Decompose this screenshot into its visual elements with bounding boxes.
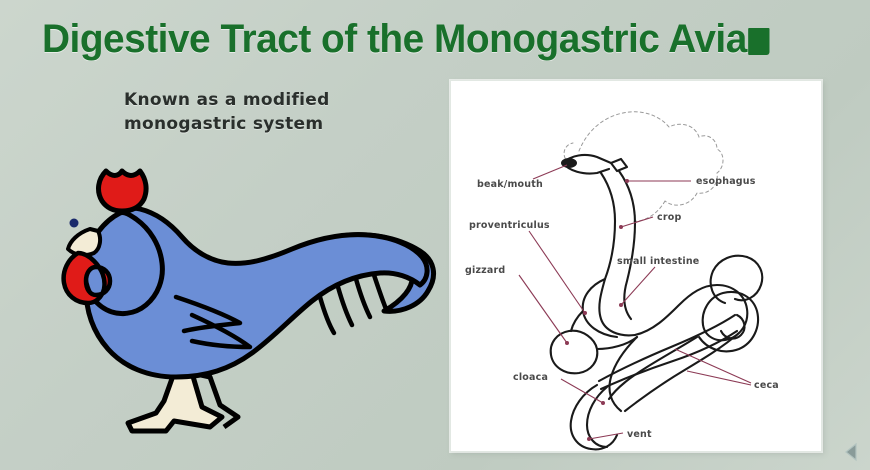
leader-ceca-lower [687,371,751,385]
leader-cloaca [561,379,603,403]
page-title-text: Digestive Tract of the Monogastric Avia [42,17,747,61]
diagram-label-gizzard: gizzard [465,265,505,276]
diagram-label-beak-mouth: beak/mouth [477,179,543,190]
chevron-left-icon [846,444,856,460]
subtitle-block: Known as a modified monogastric system [124,88,424,136]
digestive-tract-path [551,171,763,411]
chicken-legs [128,373,238,431]
leader-beak-mouth [533,165,567,179]
subtitle-line-2: monogastric system [124,112,424,136]
leader-ceca-upper [675,349,751,383]
chicken-comb [99,171,147,211]
slide-canvas: Digestive Tract of the Monogastric Avian… [0,0,870,470]
diagram-label-ceca: ceca [754,380,779,391]
chicken-beak [68,229,100,255]
diagram-label-crop: crop [657,212,681,223]
diagram-label-proventriculus: proventriculus [469,220,550,231]
subtitle-line-1: Known as a modified [124,88,424,112]
page-title: Digestive Tract of the Monogastric Avian [42,14,818,66]
leader-vent [589,433,623,439]
diagram-label-small-intestine: small intestine [617,256,699,267]
chicken-eye [70,219,79,228]
previous-slide-arrow[interactable] [840,440,864,464]
digestive-tract-diagram-panel: beak/mouth esophagus proventriculus crop… [450,80,822,452]
leader-crop [621,217,653,227]
beak-shape [561,155,627,174]
diagram-label-vent: vent [627,429,652,440]
diagram-label-cloaca: cloaca [513,372,548,383]
chicken-illustration [24,155,444,460]
bird-head-outline [564,112,723,222]
title-clipped-glyph: n [748,28,769,55]
leader-lines [519,165,751,441]
leader-gizzard [519,275,567,343]
ceca-cloaca-vent-shapes [571,315,745,449]
diagram-label-esophagus: esophagus [696,176,756,187]
